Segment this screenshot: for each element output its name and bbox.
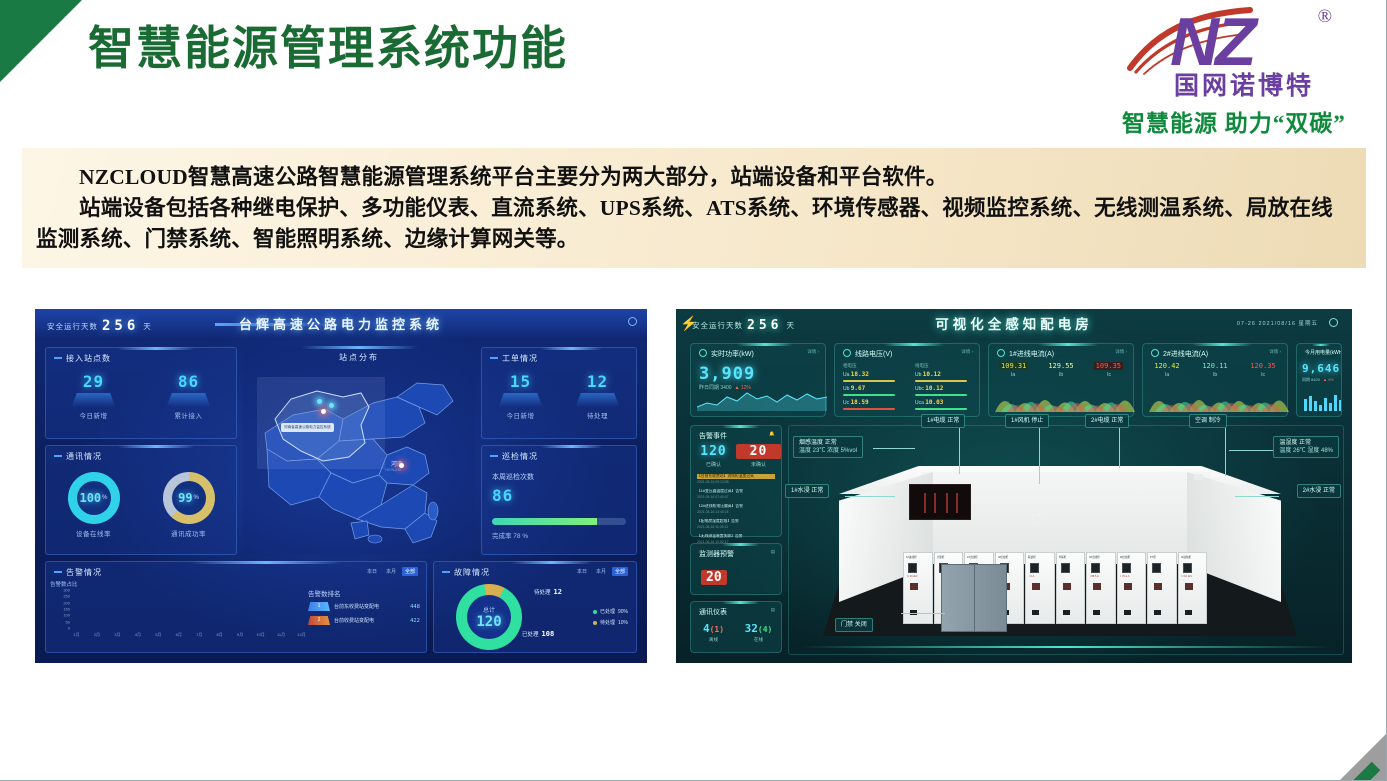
alarm-chart-bars [72,590,306,628]
voltage-row-0: Ua 18.32 [843,371,869,378]
fault-tab-0[interactable]: 本日 [574,567,590,576]
month-value: 9,646 [1302,362,1340,375]
card-title-warn: 监测器预警 [699,549,734,559]
fault-done-label: 已处理 [522,632,539,638]
map-marker-highlight[interactable] [399,463,404,468]
power-icon[interactable] [628,317,637,326]
current1-values: 109.31 129.55 109.35 [989,362,1133,370]
cabinet-meter-icon [1152,563,1161,573]
fault-donut-ring: 总计 120 [456,584,522,650]
card-title-current1: 1#进线电流(A) [997,349,1054,359]
voltage-bar-3 [915,394,967,396]
safe-days-label: 安全运行天数 [47,321,98,332]
order-stat-1-label: 待处理 [559,410,636,420]
card-title-comm: 通讯情况 [54,451,102,462]
room-label-water1[interactable]: 1#水浸 正常 [785,484,829,498]
card-title-sites: 接入站点数 [54,353,111,364]
current2-ib: 120.11 [1202,362,1227,370]
cabinet-name: 计量柜 [937,555,961,560]
ranking-row-0[interactable]: 1 台前东收费站变配电 448 [308,602,420,611]
alarm-bar-label: 5月 [154,632,163,638]
alarm-bell-icon[interactable]: 🔔 [769,431,775,437]
alarm-event-list[interactable]: 【台前东收费站】进线柜温度过高2021-08-16 09:13:08【1#变压器… [697,474,775,549]
power-value: 3,909 [699,364,755,384]
fault-legend-0-name: 已处理 [600,608,615,615]
map-title-accent [301,346,417,349]
leader-line [845,496,895,497]
patrol-metric-value: 86 [492,486,513,505]
substation-3d-view[interactable]: 1#进线柜U 10.2kV计量柜1#出线柜I 102.3A2#出线柜I 98.6… [788,425,1344,655]
alarm-item-text: 【2#进线柜电压偏高】告警 [697,504,775,509]
comm-meter-1-label: 在线 [736,637,781,643]
gauge-ring-1: 99 % [163,472,215,524]
power-gauge-icon [699,349,707,357]
voltage-bar-1 [915,380,967,382]
site-stat-0-label: 今日新增 [46,410,141,420]
map-marker-site-b[interactable] [329,403,334,408]
fault-legend-0: 已处理 90% [593,608,628,615]
gauge-1: 99 % 通讯成功率 [141,472,236,538]
warn-value: 20 [701,570,727,585]
alarm-item-text: 【无线测温装置失联】告警 [697,534,775,539]
alarm-event-counts: 120 已确认 20 未确认 [691,444,781,468]
leader-line [1229,450,1273,451]
cabinet-value: U 10.2kV [907,575,929,578]
comm-gauges: 100 % 设备在线率 99 % 通讯成功率 [46,472,236,538]
right-safe-days-unit: 天 [786,320,795,331]
current2-ic: 120.35 [1250,362,1275,370]
gauge-0-label: 设备在线率 [76,528,111,538]
alarm-bar-label: 6月 [174,632,183,638]
card-title-alarm-events: 告警事件 [699,431,727,441]
meter-icon[interactable]: ▤ [771,607,775,613]
fault-tab-2[interactable]: 全部 [612,567,628,576]
comm-meter-counts: 4(1) 离线 32(4) 在线 [691,622,781,643]
switchgear-cabinet[interactable]: 母联柜 [1056,552,1086,624]
alarm-chart-x-axis: 1月2月3月4月5月6月7月8月9月10月11月12月 [72,632,306,638]
voltage-row-4: Uc 18.59 [843,399,869,406]
fault-donut-center: 总计 120 [467,595,511,639]
current1-labels: Ia Ib Ic [989,372,1133,378]
gauge-1-value: 99 [178,491,192,505]
fault-total-value: 120 [476,614,501,630]
alarm-item-time: 2021-08-16 13:40:24 [697,510,728,514]
card-comm-meters: 通讯仪表 ▤ 4(1) 离线 32(4) 在线 [690,601,782,653]
rank-name-0: 台前东收费站变配电 [334,603,406,610]
wall-display-screen [909,484,971,520]
gauge-0-value: 100 [79,491,101,505]
ranking-row-1[interactable]: 2 台前收费站变配电 422 [308,616,420,625]
room-bottom-glow [801,646,1331,648]
cabinet-knob-icon [1185,583,1193,590]
fault-legend-1: 待处理 10% [593,619,628,626]
comm-meter-0-label: 离线 [691,637,736,643]
logo-mark: NZ ® 国网诺博特 [1118,4,1370,96]
alarm-tab-0[interactable]: 本日 [364,567,380,576]
card-current-line1: 1#进线电流(A) 详情 › 109.31 129.55 109.35 Ia I… [988,343,1134,417]
corner-decoration-top-left [0,0,82,82]
comm-meter-0: 4(1) 离线 [691,622,736,643]
alarm-bar-label: 4月 [133,632,142,638]
page-title: 智慧能源管理系统功能 [88,12,568,78]
rank-name-1: 台前收费站变配电 [334,617,406,624]
card-connected-sites: 接入站点数 29 今日新增 86 累计接入 [45,347,237,439]
left-dashboard-screenshot: 台辉高速公路电力监控系统 安全运行天数 256 天 接入站点数 29 今日新增 … [35,309,647,663]
order-stat-1: 12 待处理 [559,372,636,420]
rank-value-1: 422 [410,618,420,624]
alarm-list-item[interactable]: 【台前东收费站】进线柜温度过高2021-08-16 09:13:08 [697,474,775,485]
current1-ia: 109.31 [999,362,1028,370]
alarm-bar-label: 7月 [195,632,204,638]
fault-legend-1-pct: 10% [618,620,628,626]
patrol-metric-label: 本周巡检次数 [492,472,534,482]
comm-meter-1-value: 32(4) [736,622,781,635]
fault-legend-0-pct: 90% [618,609,628,615]
room-label-cable2[interactable]: 2#电缆 正常 [1085,414,1129,428]
cabinet-value: I 0 A [1029,575,1051,578]
alarm-bar-chart: 告警数占比 050100150200250300 1月2月3月4月5月6月7月8… [72,590,306,638]
alarm-count-total: 120 已确认 [691,444,736,468]
alarm-bar-label: 10月 [256,632,265,638]
comm-meter-0-value: 4(1) [691,622,736,635]
card-title-patrol: 巡检情况 [490,451,538,462]
power-sparkline-chart [697,387,827,411]
cabinet-name: 1#出线柜 [967,555,991,560]
voltage-row-5: Uca 10.03 [915,399,943,406]
alarm-count-new: 20 未确认 [736,444,781,468]
month-bar-chart [1303,391,1342,411]
alarm-bar-label: 1月 [72,632,81,638]
current1-ic: 109.35 [1094,362,1123,370]
order-stats: 15 今日新增 12 待处理 [482,372,636,420]
alarm-y-tick: 200 [63,600,70,605]
alarm-item-time: 2021-08-16 07:40:47 [697,495,728,499]
right-dashboard-screenshot: ⚡ 安全运行天数 256 天 可视化全感知配电房 07-26 2021/08/1… [676,309,1352,663]
fault-total-label: 总计 [483,605,495,614]
camera-icon [1194,474,1203,480]
map-marker-site-a[interactable] [317,399,322,404]
fault-donut-chart: 总计 120 [456,584,522,650]
card-title-fault: 故障情况 [442,567,490,578]
alarm-item-time: 2021-08-16 09:13:08 [697,480,728,484]
corner-decoration-bottom-right [1296,688,1386,780]
cabinet-switch-icon [1032,610,1039,615]
voltage-icon [843,349,851,357]
alarm-bar-label: 9月 [236,632,245,638]
switchgear-cabinet[interactable]: 4#出线柜I 76.4 A [1117,552,1147,624]
stat-pedestal-icon [576,393,620,407]
safe-days-unit: 天 [143,321,152,332]
description-paragraph-1: NZCLOUD智慧高速公路智慧能源管理系统平台主要分为两大部分，站端设备和平台软… [36,162,1352,193]
room-label-temp-humidity[interactable]: 温湿度 正常 温度 26℃ 湿度 48% [1273,436,1339,458]
leader-line [1119,428,1120,468]
map-marker-site-c[interactable] [321,409,326,414]
card-month-energy: 今月用电量(kWh) 9,646 同期 8420▲ 9% [1296,343,1342,417]
voltage-bar-5 [915,408,967,410]
alarm-tab-1[interactable]: 本月 [383,567,399,576]
map-province-inset: 河南省高速公路电力监控系统 [257,377,385,469]
card-fault-status: 故障情况 本日 本月 全部 总计 120 待处理12 [433,561,637,653]
logo-company-name: 国网诺博特 [1174,66,1314,102]
card-title-current2: 2#进线电流(A) [1151,349,1208,359]
right-dashboard-title: 可视化全感知配电房 [935,313,1093,333]
cabinet-switch-icon [1063,610,1070,615]
alarm-total-value: 120 [691,444,736,459]
room-label-smoke[interactable]: 烟感温度 正常 温度 23℃ 浓度 5%vol [793,436,863,458]
alarm-new-value: 20 [736,444,781,459]
alarm-chart-y-axis: 050100150200250300 [56,590,70,628]
exhaust-fan-icon [1032,514,1043,525]
alarm-list-item[interactable]: 【1#变压器温度过高】告警2021-08-16 07:40:47 [697,489,775,500]
map-canvas[interactable]: 河南省高速公路电力监控系统 河南 HENAN [247,363,471,551]
alarm-bar-label: 12月 [297,632,306,638]
sites-stats: 29 今日新增 86 累计接入 [46,372,236,420]
alarm-total-label: 已确认 [691,461,736,468]
card-title-alarm: 告警情况 [54,567,102,578]
cabinet-meter-icon [1183,563,1192,573]
switchgear-cabinet[interactable]: 2#进线柜U 10.1kV [1178,552,1208,624]
right-dashboard: ⚡ 安全运行天数 256 天 可视化全感知配电房 07-26 2021/08/1… [676,309,1352,663]
cabinet-knob-icon [1154,583,1162,590]
safe-running-days: 安全运行天数 256 天 [47,318,152,334]
card-realtime-power: 实时功率(kW) 详情 › 3,909 昨日同期 3400▲ 12% [690,343,826,417]
switchgear-cabinet[interactable]: PT柜 [1147,552,1177,624]
gauge-0-unit: % [102,495,107,501]
map-province-label-en: HENAN [385,467,401,472]
cabinet-value: I 76.4 A [1121,575,1143,578]
alarm-bar-label: 11月 [277,632,286,638]
room-label-ac[interactable]: 空调 制冷 [1189,414,1227,428]
alarm-bar-label: 2月 [92,632,101,638]
ranking-title: 告警数排名 [308,588,420,598]
cabinet-knob-icon [1032,583,1040,590]
cabinet-name: 1#进线柜 [906,555,930,560]
stat-pedestal-icon [499,393,543,407]
room-doors [941,564,1007,632]
comm-meter-1: 32(4) 在线 [736,622,781,643]
cabinet-knob-icon [910,583,918,590]
switchgear-cabinet[interactable]: 联络柜I 0 A [1025,552,1055,624]
card-patrol-status: 巡检情况 本周巡检次数 86 完成率 78 % [481,445,637,555]
card-communication-status: 通讯情况 100 % 设备在线率 [45,445,237,555]
cabinet-meter-icon [1030,563,1039,573]
logo-tagline: 智慧能源 助力“双碳” [1122,104,1346,138]
cabinet-knob-icon [1124,583,1132,590]
card-sensor-warning: 监测器预警 ▤ 20 [690,543,782,595]
alarm-ranking: 告警数排名 1 台前东收费站变配电 448 2 台前收费站变配电 422 [308,588,420,630]
map-tooltip: 河南省高速公路电力监控系统 [281,423,334,432]
alarm-y-tick: 300 [63,588,70,593]
left-dashboard: 台辉高速公路电力监控系统 安全运行天数 256 天 接入站点数 29 今日新增 … [35,309,647,663]
fault-pending-value: 12 [554,588,562,596]
room-label-water2[interactable]: 2#水浸 正常 [1297,484,1341,498]
voltage-group-a-label: 相电压 [843,363,857,369]
current2-wave-chart [1149,384,1289,412]
right-safe-days-value: 256 [747,318,782,333]
card-current-line2: 2#进线电流(A) 详情 › 120.42 120.11 120.35 Ia I… [1142,343,1288,417]
cabinet-switch-icon [1185,610,1192,615]
order-stat-0: 15 今日新增 [482,372,559,420]
cabinet-meter-icon [1122,563,1131,573]
gauge-1-unit: % [194,495,199,501]
voltage-row-3: Ubc 10.12 [915,385,943,392]
alarm-tabs: 本日 本月 全部 [364,567,418,576]
alarm-item-time: 2021-08-16 11:05:31 [697,525,728,529]
site-stat-1-label: 累计接入 [141,410,236,420]
gauge-ring-0: 100 % [68,472,120,524]
leader-line [873,448,915,449]
gauge-0: 100 % 设备在线率 [46,472,141,538]
switchgear-cabinet[interactable]: 3#出线柜I 88.5 A [1086,552,1116,624]
card-title-comm-meters: 通讯仪表 [699,607,727,617]
cabinet-name: 3#出线柜 [1089,555,1113,560]
order-stat-0-value: 15 [482,372,559,391]
patrol-progress-bar [492,518,626,525]
cabinet-meter-icon [908,563,917,573]
current-icon [997,349,1005,357]
current2-labels: Ia Ib Ic [1143,372,1287,378]
alarm-new-label: 未确认 [736,461,781,468]
description-panel: NZCLOUD智慧高速公路智慧能源管理系统平台主要分为两大部分，站端设备和平台软… [22,148,1366,268]
gauge-hole-1: 99 % [172,481,206,515]
map-title: 站点分布 [339,352,379,363]
patrol-rate-label: 完成率 78 % [492,530,528,540]
cabinet-value: I 88.5 A [1090,575,1112,578]
leader-line [1225,428,1226,476]
card-more-current1[interactable]: 详情 › [1115,349,1127,355]
cabinet-knob-icon [1093,583,1101,590]
rank-badge-0: 1 [308,602,330,611]
alarm-list-item[interactable]: 【2#进线柜电压偏高】告警2021-08-16 13:40:24 [697,504,775,515]
current1-ib: 129.55 [1048,362,1073,370]
right-safe-days-label: 安全运行天数 [692,320,743,331]
alarm-item-text: 【台前东收费站】进线柜温度过高 [697,474,775,479]
fault-legend: 已处理 90% 待处理 10% [593,608,628,630]
leader-line [1235,496,1279,497]
order-stat-1-value: 12 [559,372,636,391]
alarm-item-text: 【1#变压器温度过高】告警 [697,489,775,494]
card-more-current2[interactable]: 详情 › [1269,349,1281,355]
room-label-door[interactable]: 门禁 关闭 [835,618,873,632]
cabinet-name: PT柜 [1150,555,1174,560]
cabinet-meter-icon [1091,563,1100,573]
cabinet-name: 联络柜 [1028,555,1052,560]
alarm-item-text: 【配电房湿度超限】告警 [697,519,775,524]
alarm-list-item[interactable]: 【配电房湿度超限】告警2021-08-16 11:05:31 [697,519,775,530]
card-alarm-events: 告警事件 🔔 120 已确认 20 未确认 【台前东收费站】进线柜温度过高202… [690,425,782,537]
fault-legend-1-name: 待处理 [600,619,615,626]
alarm-bar-label: 8月 [215,632,224,638]
card-title-month: 今月用电量(kWh) [1305,349,1342,356]
current2-ia: 120.42 [1154,362,1179,370]
card-more-voltage[interactable]: 详情 › [961,349,973,355]
card-title-voltage: 线路电压(V) [843,349,892,359]
current2-values: 120.42 120.11 120.35 [1143,362,1287,370]
slide-root: 智慧能源管理系统功能 NZ ® 国网诺博特 智慧能源 助力“双碳” NZCLOU… [0,0,1387,781]
voltage-bar-4 [843,408,895,410]
alarm-tab-2[interactable]: 全部 [402,567,418,576]
cabinet-name: 4#出线柜 [1120,555,1144,560]
voltage-group-b-label: 线电压 [915,363,929,369]
company-logo: NZ ® 国网诺博特 智慧能源 助力“双碳” [1118,4,1370,136]
rank-value-0: 448 [410,604,420,610]
card-line-voltage: 线路电压(V) 详情 › 相电压 线电压 Ua 18.32 Ub 10.12 U… [834,343,980,417]
site-stat-1-value: 86 [141,372,236,391]
left-dashboard-title: 台辉高速公路电力监控系统 [239,314,443,333]
site-stat-1: 86 累计接入 [141,372,236,420]
stat-pedestal-icon [72,393,116,407]
fault-tab-1[interactable]: 本月 [593,567,609,576]
cabinet-switch-icon [1124,610,1131,615]
card-title-power: 实时功率(kW) [699,349,754,359]
gauge-hole-0: 100 % [77,481,111,515]
right-safe-running-days: 安全运行天数 256 天 [692,318,795,333]
cabinet-meter-icon [1061,563,1070,573]
voltage-row-2: Ub 9.67 [843,385,865,392]
site-stat-0-value: 29 [46,372,141,391]
month-sub: 同期 8420▲ 9% [1302,377,1334,383]
site-stat-0: 29 今日新增 [46,372,141,420]
gauge-1-label: 通讯成功率 [171,528,206,538]
cabinet-name: 母联柜 [1059,555,1083,560]
room-label-cable1[interactable]: 1#电缆 正常 [921,414,965,428]
right-dashboard-datetime: 07-26 2021/08/16 星期五 [1237,319,1318,327]
alarm-y-tick: 50 [66,619,70,624]
card-work-orders: 工单情况 15 今日新增 12 待处理 [481,347,637,439]
leader-line [1039,428,1040,484]
safe-days-value: 256 [102,318,139,334]
warn-settings-icon[interactable]: ▤ [771,549,775,555]
alarm-bar-label: 3月 [113,632,122,638]
leader-line [959,428,960,474]
alarm-y-tick: 100 [63,613,70,618]
cabinet-name: 2#进线柜 [1181,555,1205,560]
alarm-y-tick: 250 [63,594,70,599]
fault-done-value: 108 [542,630,555,638]
card-site-map: 站点分布 [243,347,475,555]
alarm-y-tick: 150 [63,607,70,612]
voltage-bar-0 [843,380,895,382]
card-title-orders: 工单情况 [490,353,538,364]
current-icon [1151,349,1159,357]
current1-wave-chart [995,384,1135,412]
alarm-y-tick: 0 [68,626,70,631]
fault-pending-label: 待处理 [534,590,551,596]
fault-pending-callout: 待处理12 [534,588,562,596]
fault-done-callout: 已处理108 [522,630,554,638]
fault-tabs: 本日 本月 全部 [574,567,628,576]
right-power-icon[interactable] [1329,318,1338,327]
rank-badge-1: 2 [308,616,330,625]
registered-trademark-icon: ® [1318,6,1332,28]
stat-pedestal-icon [167,393,211,407]
cabinet-switch-icon [1093,610,1100,615]
description-paragraph-2: 站端设备包括各种继电保护、多功能仪表、直流系统、UPS系统、ATS系统、环境传感… [36,193,1352,255]
cabinet-knob-icon [1063,583,1071,590]
leader-line [901,613,945,614]
cabinet-switch-icon [1154,610,1161,615]
card-alarm-chart: 告警情况 本日 本月 全部 告警数占比 050100150200250300 1… [45,561,427,653]
voltage-row-1: Ub 10.12 [915,371,941,378]
card-more-power[interactable]: 详情 › [807,349,819,355]
order-stat-0-label: 今日新增 [482,410,559,420]
room-label-fan[interactable]: 1#风机 停止 [1005,414,1049,428]
cabinet-value: U 10.1kV [1182,575,1204,578]
voltage-bar-2 [843,394,895,396]
cabinet-name: 2#出线柜 [998,555,1022,560]
